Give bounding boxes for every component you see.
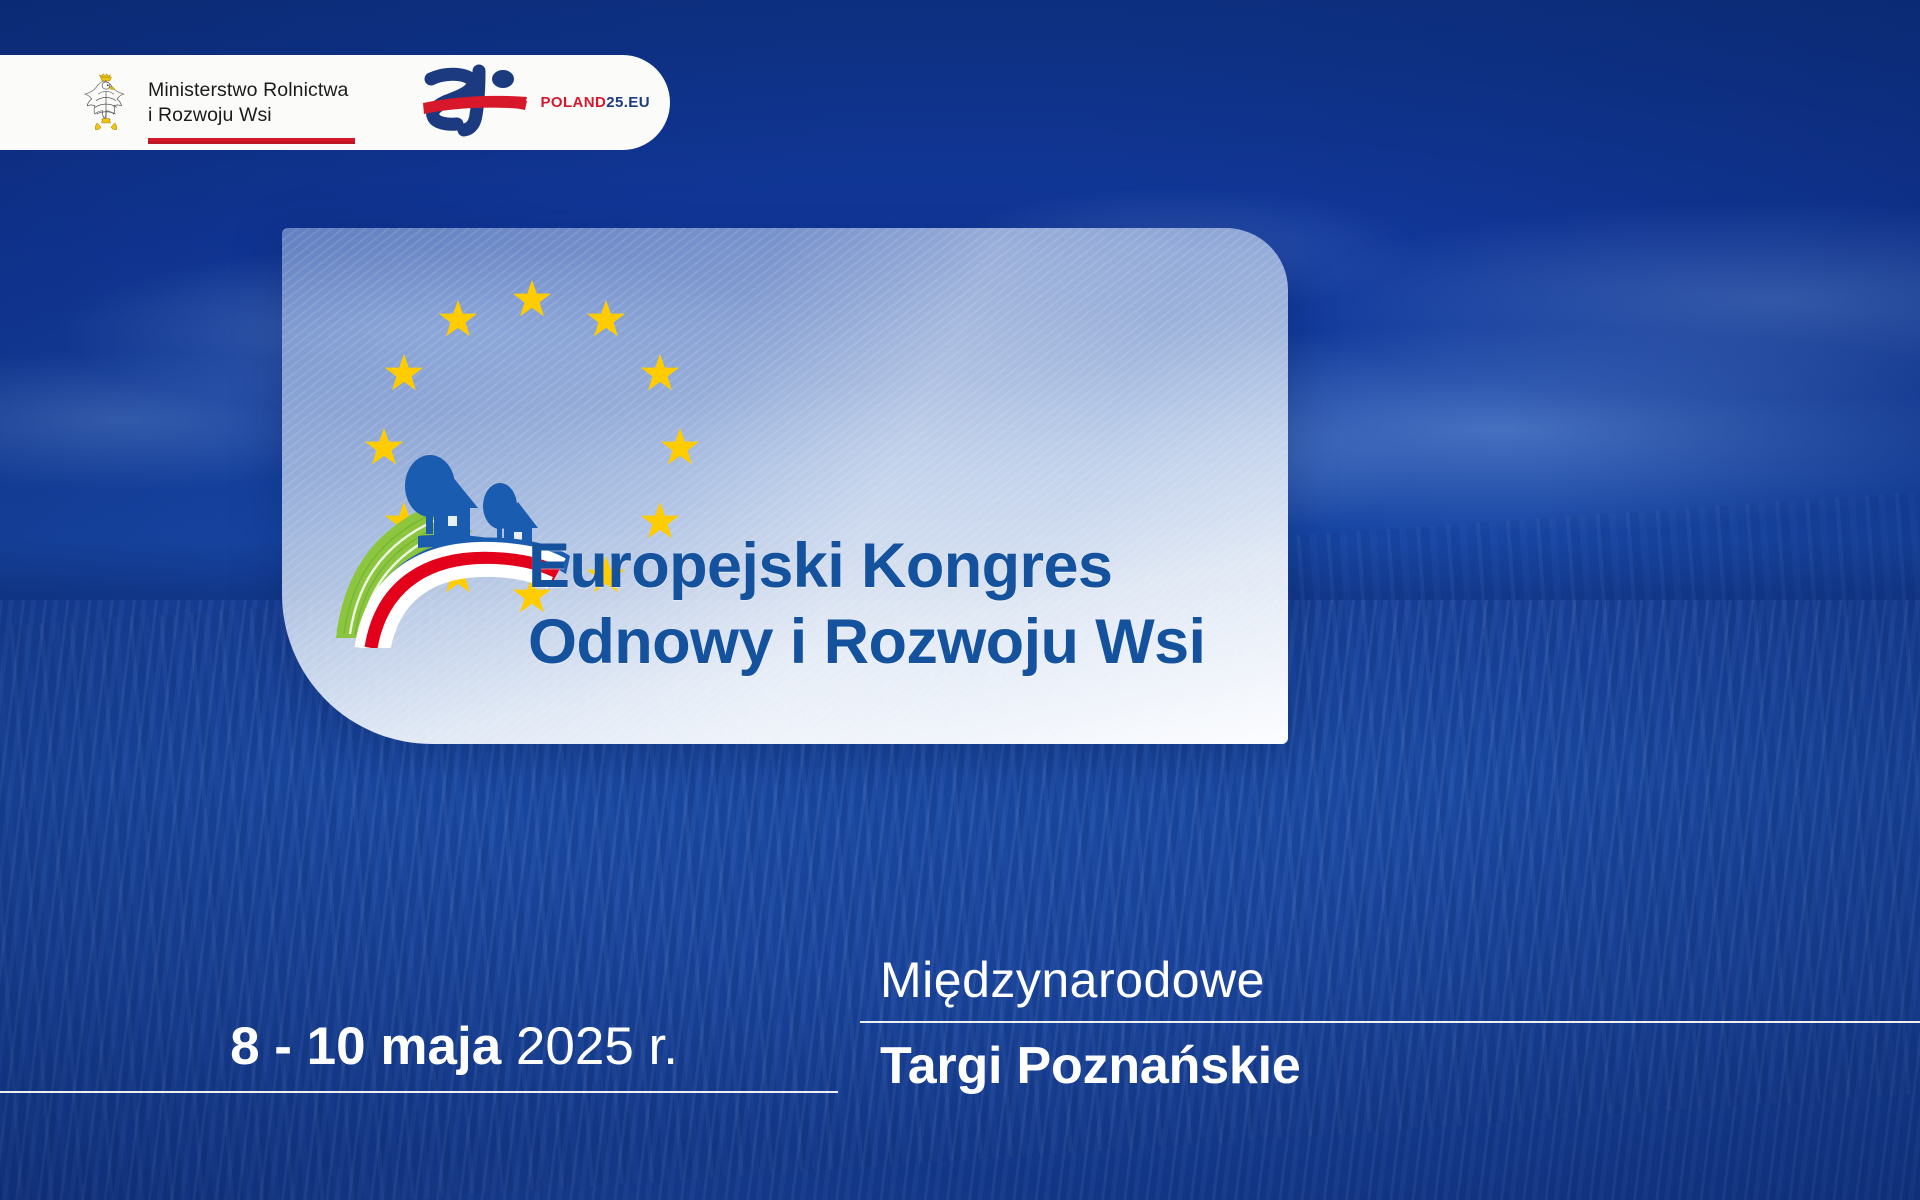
congress-logo-card: Europejski Kongres Odnowy i Rozwoju Wsi [282, 228, 1288, 744]
eu-presidency-logo: POLAND25.EU [417, 63, 650, 143]
congress-title-line2: Odnowy i Rozwoju Wsi [528, 604, 1268, 680]
ministry-name-line2: i Rozwoju Wsi [148, 103, 349, 127]
venue-line2: Targi Poznańskie [860, 1040, 1920, 1092]
congress-title-line1: Europejski Kongres [528, 528, 1268, 604]
congress-title: Europejski Kongres Odnowy i Rozwoju Wsi [528, 528, 1268, 680]
venue-block: Międzynarodowe Targi Poznańskie [860, 955, 1920, 1092]
event-date-days: 8 - 10 maja [230, 1017, 501, 1076]
ministry-red-rule [148, 138, 355, 144]
eu-presidency-label-domain: 25.EU [606, 94, 650, 111]
event-date: 8 - 10 maja 2025 r. [0, 1020, 840, 1073]
event-date-rule [0, 1091, 838, 1093]
event-date-block: 8 - 10 maja 2025 r. [0, 1020, 840, 1093]
eu-presidency-label-country: POLAND [541, 94, 607, 111]
ministry-name: Ministerstwo Rolnictwa i Rozwoju Wsi [148, 78, 349, 127]
venue-line1: Międzynarodowe [860, 955, 1920, 1005]
event-date-year: 2025 r. [516, 1017, 678, 1076]
eu-presidency-label: POLAND25.EU [541, 94, 650, 111]
polish-eagle-emblem [78, 72, 134, 134]
partner-logo-bar: Ministerstwo Rolnictwa i Rozwoju Wsi POL… [0, 55, 670, 150]
eu-poland-presidency-mark [417, 63, 539, 143]
ministry-name-line1: Ministerstwo Rolnictwa [148, 78, 349, 102]
ministry-logo: Ministerstwo Rolnictwa i Rozwoju Wsi [78, 72, 349, 134]
venue-rule [860, 1021, 1920, 1023]
